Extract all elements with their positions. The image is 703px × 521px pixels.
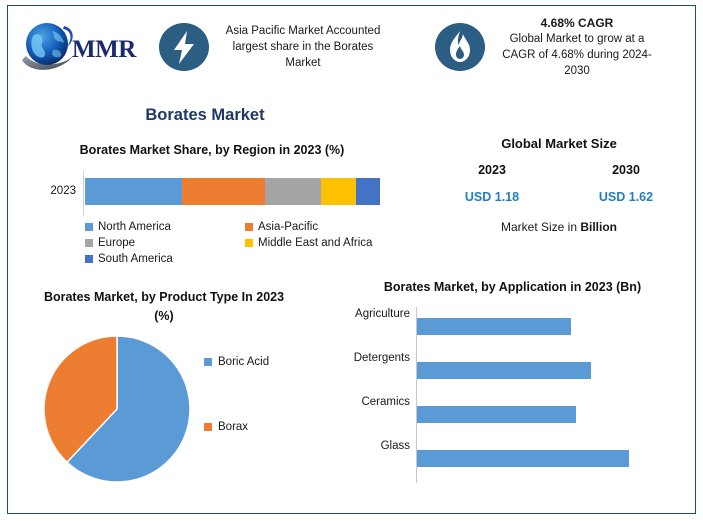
application-chart: Borates Market, by Application in 2023 (…: [330, 278, 695, 516]
header-badge-cagr: 4.68% CAGR Global Market to grow at a CA…: [434, 15, 658, 79]
region-share-chart: Borates Market Share, by Region in 2023 …: [14, 143, 410, 275]
gms-year-2030: 2030: [559, 163, 693, 177]
legend-swatch-icon: [85, 223, 93, 231]
legend-label: Europe: [98, 237, 135, 249]
legend-label: Asia-Pacific: [258, 221, 318, 233]
region-segment-asia-pacific: [182, 178, 265, 205]
application-bar-agriculture: [417, 318, 571, 335]
brand-logo-text: MMR: [72, 36, 136, 64]
global-market-size-footer: Market Size in Billion: [425, 220, 693, 234]
legend-label: North America: [98, 221, 171, 233]
global-market-size-panel: Global Market Size 2023 2030 USD 1.18 US…: [425, 136, 693, 234]
application-category-label: Ceramics: [330, 395, 410, 410]
application-bar-row: Agriculture: [330, 307, 695, 351]
application-bar-row: Glass: [330, 439, 695, 483]
application-category-label: Glass: [330, 439, 410, 454]
legend-item[interactable]: Boric Acid: [204, 356, 314, 368]
application-bar-row: Detergents: [330, 351, 695, 395]
legend-swatch-icon: [85, 255, 93, 263]
gms-footer-unit: Billion: [580, 220, 617, 234]
pie-graphic: [42, 334, 192, 484]
legend-label: Borax: [218, 421, 248, 433]
gms-value-2030: USD 1.62: [559, 190, 693, 204]
application-plot-area: AgricultureDetergentsCeramicsGlass: [330, 307, 695, 487]
application-category-label: Detergents: [330, 351, 410, 366]
region-category-label: 2023: [28, 185, 76, 197]
header-badge-asia-pacific: Asia Pacific Market Accounted largest sh…: [158, 22, 386, 72]
legend-item[interactable]: Borax: [204, 421, 314, 433]
brand-logo[interactable]: MMR: [10, 14, 158, 80]
legend-item[interactable]: Middle East and Africa: [245, 235, 405, 251]
region-segment-north-america: [85, 178, 182, 205]
legend-swatch-icon: [245, 223, 253, 231]
global-market-size-title: Global Market Size: [425, 136, 693, 151]
header-badge-asia-pacific-text: Asia Pacific Market Accounted largest sh…: [220, 23, 386, 71]
region-stacked-bar: [85, 178, 380, 205]
legend-item[interactable]: South America: [85, 251, 245, 267]
pie-legend: Boric AcidBorax: [204, 356, 314, 433]
infographic-root: MMR Asia Pacific Market Accounted larges…: [0, 0, 703, 521]
region-plot-area: 2023: [28, 171, 410, 216]
application-chart-title: Borates Market, by Application in 2023 (…: [358, 278, 668, 297]
gms-year-2023: 2023: [425, 163, 559, 177]
region-axis-line: [83, 171, 84, 216]
legend-swatch-icon: [204, 358, 212, 366]
application-category-label: Agriculture: [330, 307, 410, 322]
region-segment-south-america: [356, 178, 380, 205]
global-market-size-values: USD 1.18 USD 1.62: [425, 190, 693, 204]
legend-item[interactable]: North America: [85, 219, 245, 235]
gms-footer-prefix: Market Size in: [501, 220, 580, 234]
product-type-chart-title: Borates Market, by Product Type In 2023 …: [39, 288, 289, 326]
legend-swatch-icon: [204, 423, 212, 431]
application-bar-ceramics: [417, 406, 576, 423]
cagr-heading: 4.68% CAGR: [496, 15, 658, 31]
application-bar-row: Ceramics: [330, 395, 695, 439]
lightning-bolt-icon: [158, 22, 210, 72]
legend-label: Boric Acid: [218, 356, 269, 368]
region-segment-europe: [265, 178, 321, 205]
legend-swatch-icon: [245, 239, 253, 247]
legend-swatch-icon: [85, 239, 93, 247]
cagr-description: Global Market to grow at a CAGR of 4.68%…: [496, 31, 658, 79]
region-legend: North AmericaAsia-PacificEuropeMiddle Ea…: [85, 219, 405, 267]
flame-icon: [434, 22, 486, 72]
legend-label: South America: [98, 253, 173, 265]
application-bar-glass: [417, 450, 629, 467]
header: MMR Asia Pacific Market Accounted larges…: [10, 8, 693, 86]
legend-item[interactable]: Asia-Pacific: [245, 219, 405, 235]
global-market-size-years: 2023 2030: [425, 163, 693, 177]
legend-label: Middle East and Africa: [258, 237, 372, 249]
header-badge-cagr-text: 4.68% CAGR Global Market to grow at a CA…: [496, 15, 658, 79]
region-segment-middle-east-and-africa: [321, 178, 356, 205]
product-type-chart: Borates Market, by Product Type In 2023 …: [14, 288, 314, 516]
region-chart-title: Borates Market Share, by Region in 2023 …: [14, 143, 410, 157]
legend-item[interactable]: Europe: [85, 235, 245, 251]
application-bar-detergents: [417, 362, 591, 379]
pie-plot-area: Boric AcidBorax: [14, 334, 314, 494]
page-title: Borates Market: [0, 106, 410, 125]
gms-value-2023: USD 1.18: [425, 190, 559, 204]
